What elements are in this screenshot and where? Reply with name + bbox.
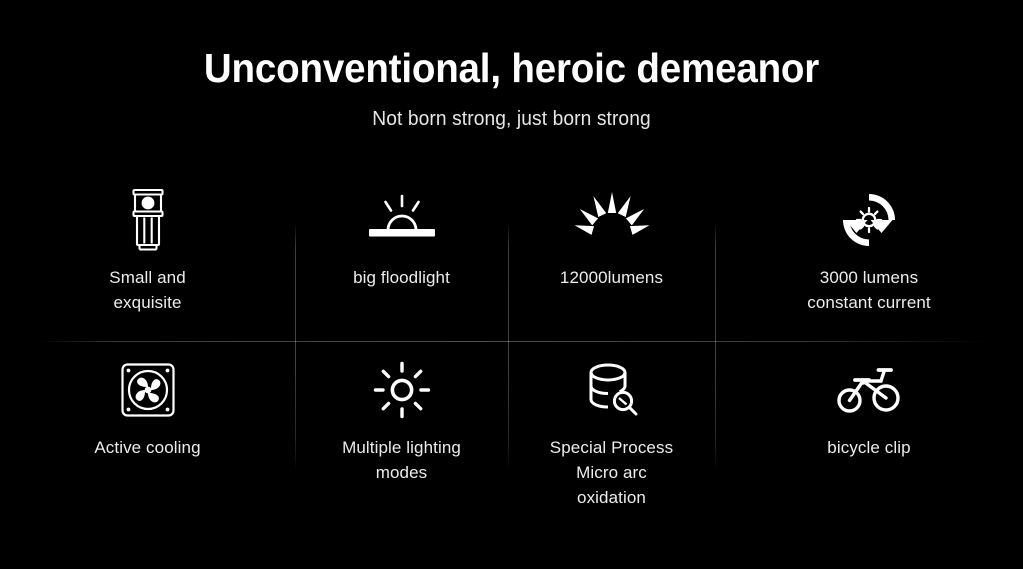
feature-label: Active cooling [94, 435, 200, 460]
feature-cell-special-process-micro-arc-oxidation: Special Process Micro arc oxidation [508, 341, 715, 511]
floodlight-sunrise-icon [365, 187, 439, 253]
feature-cell-12000-lumens: 12000lumens [508, 175, 715, 341]
feature-cell-big-floodlight: big floodlight [295, 175, 508, 341]
feature-label: Special Process Micro arc oxidation [550, 435, 673, 510]
feature-cell-active-cooling: Active cooling [0, 341, 295, 511]
feature-label: 12000lumens [560, 265, 663, 290]
flashlight-icon [126, 187, 170, 253]
header: Unconventional, heroic demeanor Not born… [0, 44, 1023, 131]
sun-burst-icon [573, 187, 651, 253]
page-subtitle: Not born strong, just born strong [20, 108, 1002, 131]
feature-label: Multiple lighting modes [342, 435, 461, 485]
page-title: Unconventional, heroic demeanor [31, 44, 993, 92]
feature-cell-multiple-lighting-modes: Multiple lighting modes [295, 341, 508, 511]
feature-label: Small and exquisite [109, 265, 186, 315]
feature-grid: Small and exquisite big floodlight [0, 175, 1023, 511]
feature-cell-bicycle-clip: bicycle clip [715, 341, 1023, 511]
feature-label: big floodlight [353, 265, 450, 290]
cooling-fan-icon [120, 357, 176, 423]
feature-cell-small-and-exquisite: Small and exquisite [0, 175, 295, 341]
feature-cell-3000-lumens-constant-current: 3000 lumens constant current [715, 175, 1023, 341]
bicycle-icon [836, 357, 902, 423]
refresh-brightness-icon [838, 187, 900, 253]
brightness-sun-icon [374, 357, 430, 423]
feature-label: bicycle clip [827, 435, 910, 460]
database-magnifier-icon [583, 357, 641, 423]
feature-label: 3000 lumens constant current [807, 265, 931, 315]
product-feature-banner: Unconventional, heroic demeanor Not born… [0, 0, 1023, 569]
